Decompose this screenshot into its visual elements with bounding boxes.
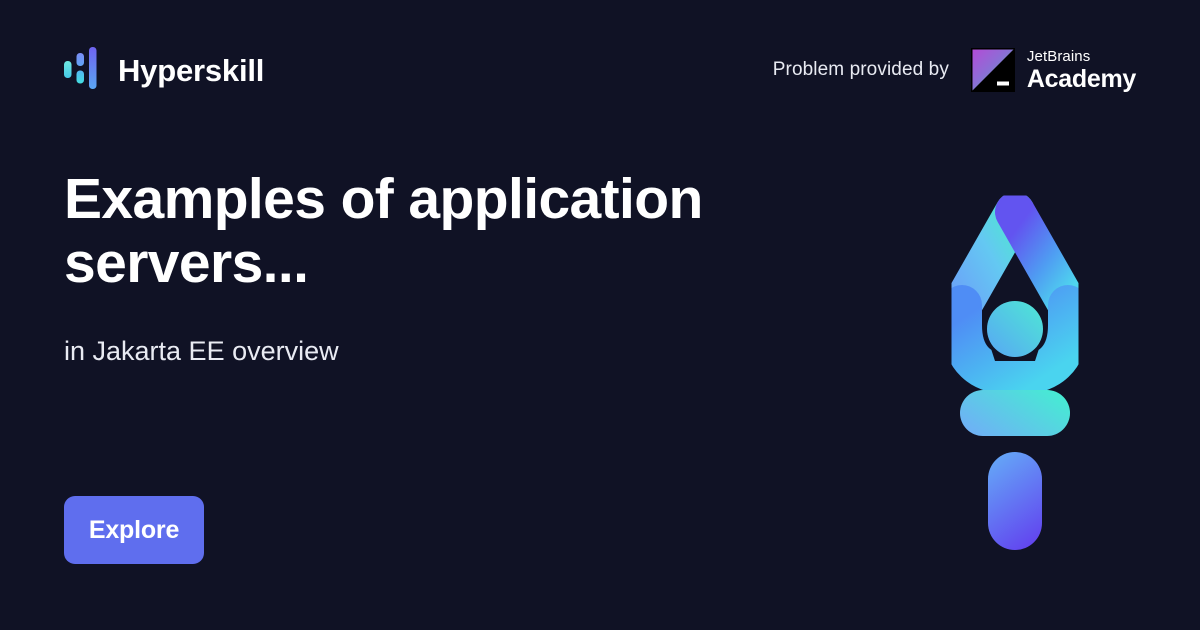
jetbrains-logo-icon [971,48,1015,92]
hyperskill-brand[interactable]: Hyperskill [64,47,264,94]
jetbrains-academy-lockup[interactable]: JetBrains Academy [971,48,1136,92]
provider-label: Problem provided by [773,59,949,81]
jakarta-ee-duke-icon [940,185,1090,550]
explore-button[interactable]: Explore [64,496,204,564]
provider-block: Problem provided by [773,48,1136,92]
jetbrains-wordmark-line1: JetBrains [1027,49,1136,64]
hyperskill-brand-name: Hyperskill [118,55,264,86]
page-subtitle: in Jakarta EE overview [64,335,764,367]
jetbrains-wordmark-line2: Academy [1027,67,1136,92]
page-title: Examples of application servers... [64,168,724,296]
jetbrains-academy-wordmark: JetBrains Academy [1027,49,1136,92]
hyperskill-logo-icon [64,47,102,94]
share-card: Hyperskill Problem provided by [0,0,1200,630]
card-content: Examples of application servers... in Ja… [64,168,764,367]
card-header: Hyperskill Problem provided by [0,0,1200,140]
